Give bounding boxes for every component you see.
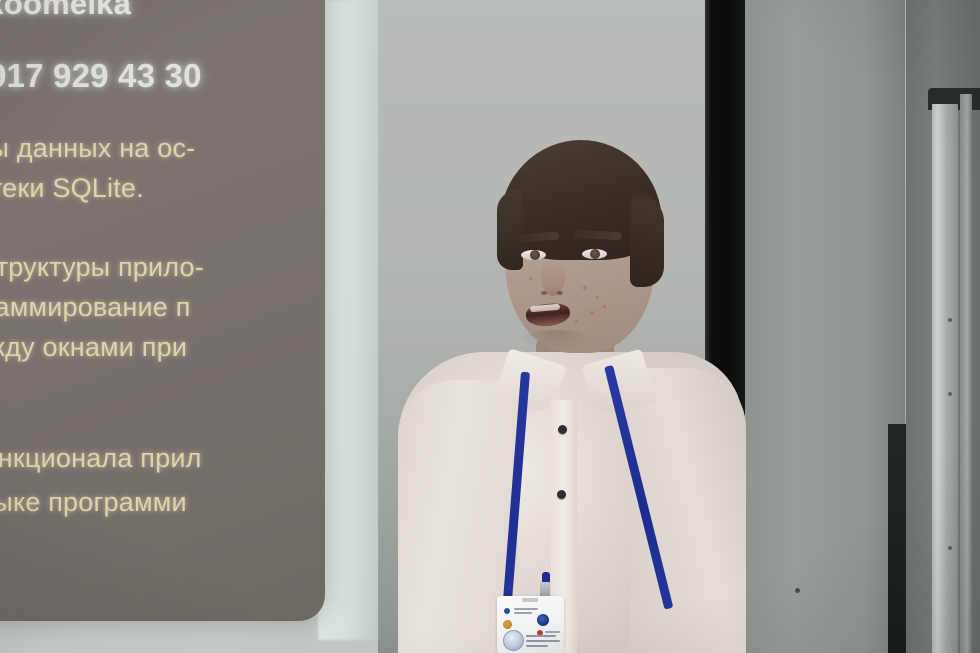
nostril-right bbox=[557, 291, 563, 295]
nostril-left bbox=[541, 291, 547, 295]
chin-shadow bbox=[519, 330, 593, 352]
badge-text-line bbox=[526, 645, 548, 647]
skin-blemish bbox=[596, 296, 599, 299]
badge-text-line bbox=[514, 608, 538, 610]
hair-left-side bbox=[497, 190, 523, 270]
iris-right bbox=[590, 249, 600, 259]
badge-logo-icon bbox=[537, 614, 549, 626]
shirt-button bbox=[557, 490, 566, 499]
hair-right-side bbox=[630, 195, 664, 287]
iris-left bbox=[530, 250, 540, 260]
presenter bbox=[0, 0, 980, 653]
skin-blemish bbox=[583, 286, 587, 290]
badge-text-line bbox=[526, 635, 556, 637]
badge-text-line bbox=[514, 612, 532, 614]
badge-text-line bbox=[526, 640, 560, 642]
skin-blemish bbox=[575, 320, 578, 323]
shirt-button bbox=[558, 425, 567, 434]
badge-logo-icon bbox=[504, 608, 510, 614]
skin-blemish bbox=[590, 311, 594, 315]
badge-slot bbox=[522, 598, 538, 602]
skin-blemish bbox=[529, 277, 532, 280]
badge-logo-icon bbox=[503, 620, 512, 629]
conference-badge bbox=[497, 596, 564, 653]
badge-emblem-icon bbox=[503, 630, 524, 651]
eye-right bbox=[582, 249, 607, 259]
photograph-scene: @koomelka 917 929 43 30 азы данных на ос… bbox=[0, 0, 980, 653]
eye-left bbox=[521, 250, 546, 260]
skin-blemish bbox=[603, 305, 606, 308]
badge-text-line bbox=[545, 631, 560, 633]
